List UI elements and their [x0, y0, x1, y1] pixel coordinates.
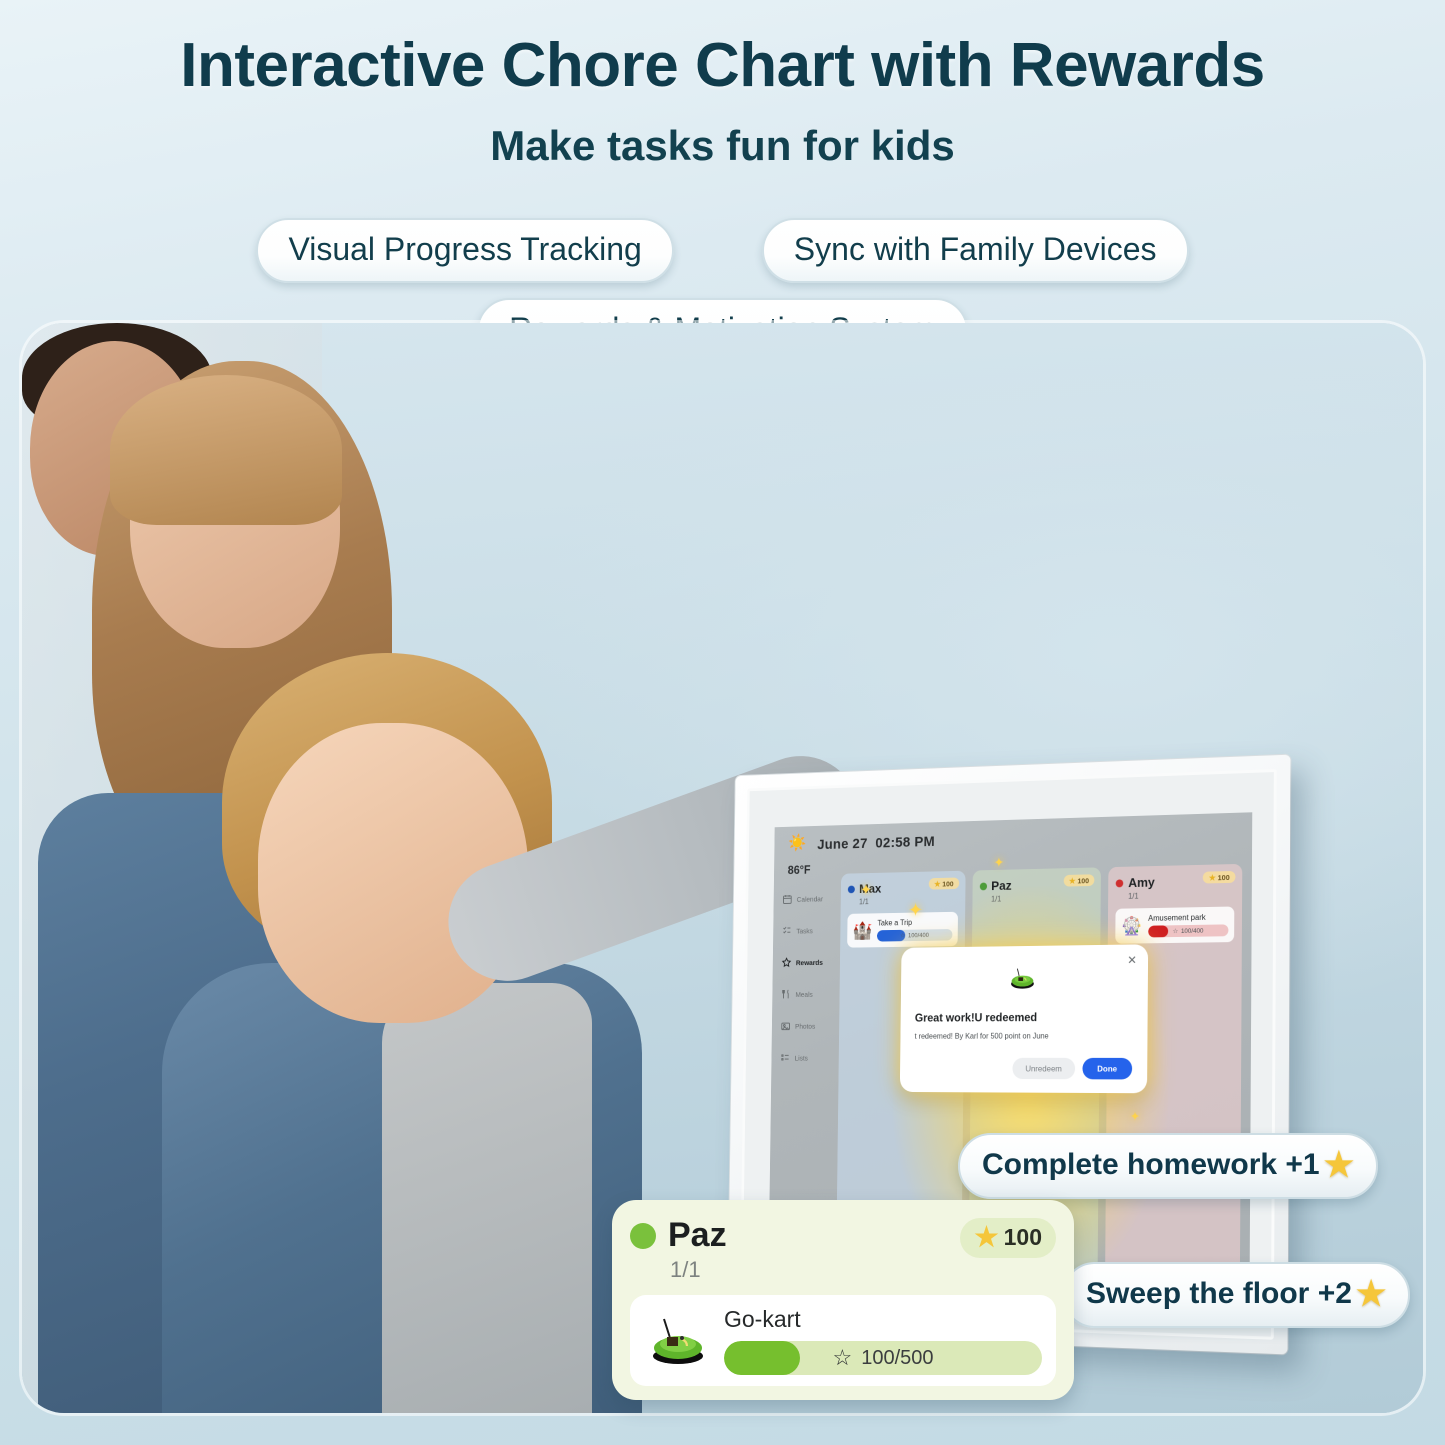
- star-icon: ★: [974, 1222, 998, 1253]
- feature-pill-sync-devices: Sync with Family Devices: [762, 218, 1189, 283]
- status-dot-max: [848, 885, 855, 893]
- sidebar-label-meals: Meals: [795, 990, 812, 999]
- sidebar-item-photos[interactable]: Photos: [780, 1020, 835, 1031]
- ferris-wheel-icon: 🎡: [1121, 917, 1142, 935]
- kid-fraction-max: 1/1: [859, 896, 958, 907]
- unredeem-button[interactable]: Unredeem: [1012, 1057, 1074, 1078]
- star-icon: ★: [1324, 1145, 1354, 1185]
- progress-bar-max: ☆100/400: [877, 929, 952, 942]
- tasks-icon: [782, 925, 792, 936]
- temperature-text: 86°F: [788, 863, 811, 877]
- task-name-amy: Amusement park: [1148, 913, 1228, 923]
- star-outline-icon: ☆: [1173, 927, 1179, 935]
- points-badge-max: ★ 100: [929, 878, 959, 890]
- sidebar-item-meals[interactable]: Meals: [781, 988, 836, 1000]
- kid-fraction-paz: 1/1: [991, 893, 1094, 904]
- points-badge-amy: ★ 100: [1203, 871, 1235, 884]
- progress-label-amy: 100/400: [1181, 927, 1203, 934]
- points-badge-paz: ★ 100: [1063, 874, 1094, 886]
- paz-reward-card: ★ 100 Paz 1/1 Go-kart ☆ 100/5: [612, 1200, 1074, 1400]
- star-icon: ★: [1209, 873, 1216, 882]
- sidebar-item-tasks[interactable]: Tasks: [782, 924, 837, 936]
- paz-status-dot: [630, 1223, 656, 1249]
- sun-icon: ☀️: [788, 834, 806, 853]
- sidebar-label-rewards: Rewards: [796, 958, 823, 967]
- callout-label-homework: Complete homework +1: [982, 1148, 1320, 1182]
- family-figures: [22, 323, 662, 1413]
- task-name-max: Take a Trip: [877, 918, 952, 928]
- page-subtitle: Make tasks fun for kids: [0, 122, 1445, 170]
- sparkle-icon: ✦: [994, 854, 1005, 871]
- photos-icon: [780, 1020, 790, 1031]
- points-value-max: 100: [942, 879, 953, 888]
- reward-task-amy[interactable]: 🎡 Amusement park ☆100/400: [1116, 906, 1235, 943]
- page-title: Interactive Chore Chart with Rewards: [0, 30, 1445, 101]
- paz-points-badge: ★ 100: [960, 1218, 1056, 1258]
- paz-fraction: 1/1: [670, 1257, 1056, 1283]
- callout-complete-homework: Complete homework +1 ★: [958, 1133, 1378, 1199]
- reward-task-max[interactable]: 🏰 Take a Trip ☆100/400: [847, 912, 958, 948]
- feature-pill-row-1: Visual Progress Tracking Sync with Famil…: [0, 218, 1445, 283]
- sidebar-item-lists[interactable]: Lists: [780, 1052, 835, 1063]
- sidebar-label-lists: Lists: [795, 1053, 808, 1061]
- modal-description: t redeemed! By Karl for 500 point on Jun…: [915, 1030, 1133, 1042]
- modal-title: Great work!U redeemed: [915, 1010, 1133, 1025]
- sidebar-item-rewards[interactable]: Rewards: [781, 956, 836, 968]
- star-icon: ★: [934, 879, 940, 888]
- callout-sweep-floor: Sweep the floor +2 ★: [1062, 1262, 1410, 1328]
- callout-label-sweep: Sweep the floor +2: [1086, 1277, 1352, 1311]
- sidebar-label-tasks: Tasks: [796, 926, 813, 935]
- datetime-display: June 27 02:58 PM: [817, 834, 935, 853]
- sidebar-item-calendar[interactable]: Calendar: [782, 893, 837, 905]
- star-icon: [781, 957, 791, 968]
- sidebar-label-photos: Photos: [795, 1022, 815, 1031]
- meals-icon: [781, 989, 791, 1000]
- tablet-sidebar: Calendar Tasks Rewards Meals: [780, 893, 837, 1064]
- sidebar-label-calendar: Calendar: [797, 894, 823, 903]
- points-value-amy: 100: [1218, 873, 1230, 882]
- go-kart-icon: [915, 964, 1133, 998]
- paz-points-value: 100: [1004, 1224, 1042, 1251]
- close-icon[interactable]: ✕: [1127, 953, 1137, 967]
- points-value-paz: 100: [1077, 876, 1089, 885]
- paz-task-row[interactable]: Go-kart ☆ 100/500: [630, 1295, 1056, 1386]
- paz-progress-bar: ☆ 100/500: [724, 1341, 1042, 1375]
- status-bar: Hide completed: [775, 812, 1253, 827]
- progress-label-max: 100/400: [908, 932, 929, 939]
- reward-redeemed-modal: ✕ Great work!U redeemed t redeemed! By K…: [900, 944, 1148, 1093]
- date-text: June 27: [817, 836, 868, 853]
- done-button[interactable]: Done: [1082, 1057, 1132, 1079]
- kid-name-amy: Amy: [1128, 875, 1155, 890]
- paz-name: Paz: [668, 1216, 727, 1255]
- progress-bar-amy: ☆100/400: [1148, 924, 1228, 937]
- star-icon: ★: [1069, 876, 1076, 885]
- kid-name-max: Max: [859, 881, 881, 896]
- star-outline-icon: ☆: [832, 1345, 852, 1371]
- lists-icon: [780, 1052, 790, 1063]
- calendar-icon: [782, 894, 792, 905]
- feature-pill-visual-progress: Visual Progress Tracking: [256, 218, 673, 283]
- paz-task-name: Go-kart: [724, 1306, 1042, 1333]
- status-dot-paz: [980, 882, 987, 890]
- kid-name-paz: Paz: [991, 878, 1011, 893]
- star-icon: ★: [1356, 1274, 1386, 1314]
- paz-progress-label: 100/500: [861, 1347, 933, 1370]
- time-text: 02:58 PM: [875, 834, 935, 852]
- kid-fraction-amy: 1/1: [1128, 890, 1234, 901]
- castle-icon: 🏰: [852, 922, 872, 939]
- star-outline-icon: ☆: [900, 932, 905, 940]
- status-dot-amy: [1116, 879, 1124, 887]
- go-kart-icon: [644, 1315, 710, 1367]
